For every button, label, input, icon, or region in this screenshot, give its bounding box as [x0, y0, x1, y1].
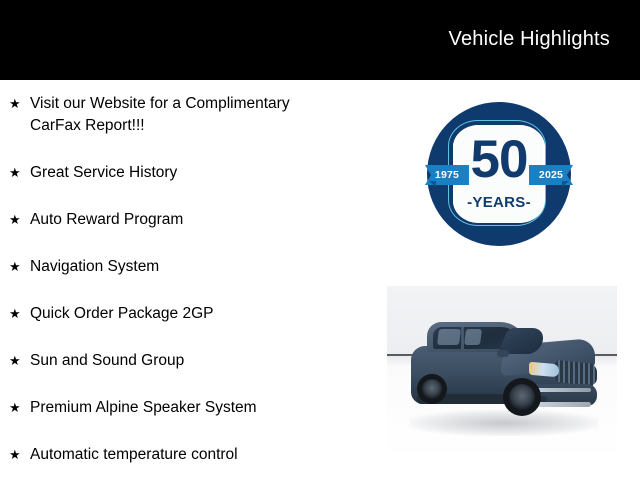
vehicle-photo: [387, 286, 617, 462]
list-item: ★ Navigation System: [0, 256, 382, 278]
list-item: ★ Great Service History: [0, 162, 382, 184]
list-item: ★ Sun and Sound Group: [0, 350, 382, 372]
page-title: Vehicle Highlights: [449, 28, 610, 51]
list-item: ★ Premium Alpine Speaker System: [0, 397, 382, 419]
star-bullet-icon: ★: [9, 350, 21, 372]
suv-grille: [555, 360, 597, 386]
star-bullet-icon: ★: [9, 209, 21, 231]
suv-window-highlight: [437, 329, 461, 345]
vehicle-highlights-list: ★ Visit our Website for a Complimentary …: [0, 80, 382, 480]
right-column: 50 -YEARS- 1975 2025: [382, 80, 640, 480]
list-item: ★ Visit our Website for a Complimentary …: [0, 93, 382, 137]
list-item-label: Premium Alpine Speaker System: [30, 397, 382, 419]
anniversary-badge: 50 -YEARS- 1975 2025: [427, 102, 571, 246]
header-bar: Vehicle Highlights: [0, 0, 640, 80]
suv-side-mirror: [497, 350, 509, 357]
content-area: ★ Visit our Website for a Complimentary …: [0, 80, 640, 480]
suv-skid-plate: [535, 402, 591, 407]
list-item-label: Automatic temperature control: [30, 444, 382, 466]
list-item-label: Navigation System: [30, 256, 382, 278]
star-bullet-icon: ★: [9, 162, 21, 184]
star-bullet-icon: ★: [9, 93, 21, 115]
suv-headlight: [529, 362, 559, 378]
suv-window-highlight: [464, 329, 482, 345]
list-item-label: Great Service History: [30, 162, 382, 184]
suv-b-pillar: [461, 327, 464, 349]
list-item-label: Quick Order Package 2GP: [30, 303, 382, 325]
list-item-label: Auto Reward Program: [30, 209, 382, 231]
star-bullet-icon: ★: [9, 256, 21, 278]
star-bullet-icon: ★: [9, 303, 21, 325]
badge-years-label: -YEARS-: [427, 195, 571, 210]
star-bullet-icon: ★: [9, 444, 21, 466]
suv-front-rim: [509, 384, 535, 410]
star-bullet-icon: ★: [9, 397, 21, 419]
list-item-label: Visit our Website for a Complimentary Ca…: [30, 93, 382, 137]
list-item: ★ Automatic temperature control: [0, 444, 382, 466]
list-item: ★ Auto Reward Program: [0, 209, 382, 231]
list-item: ★ Quick Order Package 2GP: [0, 303, 382, 325]
suv-illustration: [405, 316, 605, 426]
list-item-label: Sun and Sound Group: [30, 350, 382, 372]
suv-rear-rim: [422, 379, 442, 399]
